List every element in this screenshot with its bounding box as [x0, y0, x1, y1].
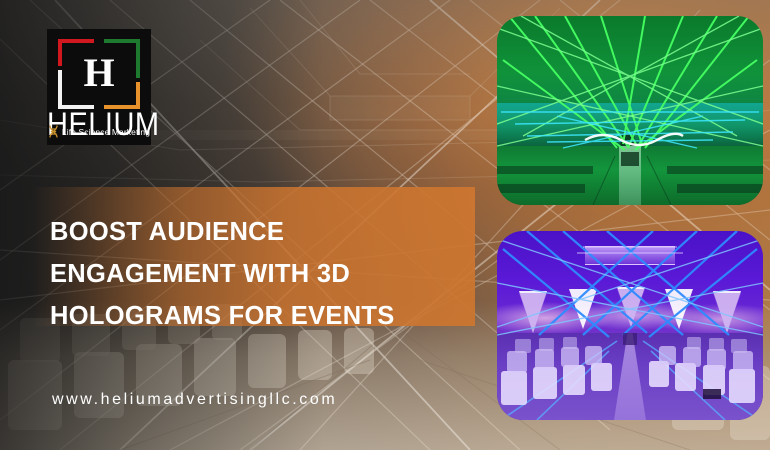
purple-laser-show-image — [497, 231, 763, 420]
page-title: BOOST AUDIENCE ENGAGEMENT WITH 3D HOLOGR… — [50, 211, 470, 337]
logo-monogram: H — [58, 53, 140, 93]
frame-top-left-horizontal — [58, 39, 94, 43]
frame-top-right-horizontal — [104, 39, 140, 43]
dna-icon — [48, 125, 59, 138]
green-laser-beams — [497, 16, 763, 205]
helium-logo[interactable]: H HELIUM Life Science Marketing — [47, 29, 151, 145]
purple-hall-chairs — [497, 231, 763, 420]
green-laser-show-image — [497, 16, 763, 205]
logo-corner-frame: H — [58, 39, 140, 109]
promotional-banner: H HELIUM Life Science Marketing BOOST AU… — [0, 0, 770, 450]
headline-line-3: HOLOGRAMS FOR EVENTS — [50, 295, 470, 337]
logo-tagline-row: Life Science Marketing — [47, 125, 151, 138]
website-url[interactable]: www.heliumadvertisingllc.com — [52, 391, 337, 409]
headline-line-1: BOOST AUDIENCE — [50, 211, 470, 253]
headline-line-2: ENGAGEMENT WITH 3D — [50, 253, 470, 295]
logo-tagline: Life Science Marketing — [62, 127, 150, 137]
